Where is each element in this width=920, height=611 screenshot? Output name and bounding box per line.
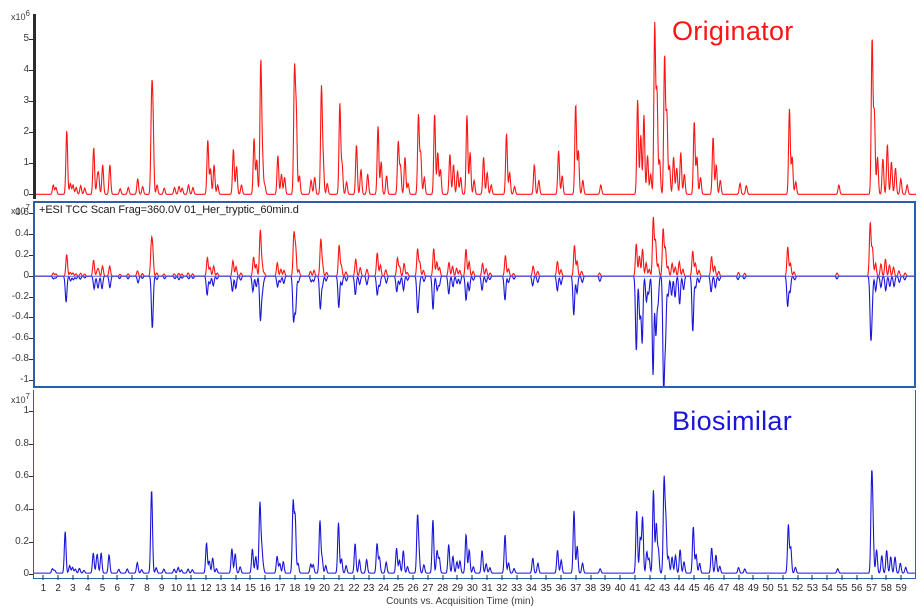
x-tick-mark bbox=[782, 575, 783, 580]
x-tick-label: 32 bbox=[496, 584, 507, 594]
y-tick-label: 0 bbox=[23, 189, 29, 199]
x-tick-label: 26 bbox=[408, 584, 419, 594]
y-tick-label: 2 bbox=[23, 127, 29, 137]
x-tick-mark bbox=[353, 575, 354, 580]
x-tick-label: 56 bbox=[851, 584, 862, 594]
x-tick-label: 45 bbox=[689, 584, 700, 594]
x-tick-label: 30 bbox=[467, 584, 478, 594]
x-tick-label: 16 bbox=[260, 584, 271, 594]
x-tick-label: 44 bbox=[674, 584, 685, 594]
x-tick-mark bbox=[812, 575, 813, 580]
x-tick-mark bbox=[708, 575, 709, 580]
x-tick-mark bbox=[280, 575, 281, 580]
x-tick-label: 7 bbox=[129, 584, 135, 594]
x-tick-mark bbox=[368, 575, 369, 580]
x-tick-mark bbox=[753, 575, 754, 580]
x-tick-label: 34 bbox=[526, 584, 537, 594]
annotation-biosimilar: Biosimilar bbox=[672, 406, 792, 437]
x-tick-label: 52 bbox=[792, 584, 803, 594]
y-tick-label: -0.4 bbox=[12, 312, 29, 322]
x-tick-mark bbox=[901, 575, 902, 580]
y-tick-label: -0.8 bbox=[12, 354, 29, 364]
x-tick-label: 8 bbox=[144, 584, 150, 594]
x-tick-mark bbox=[309, 575, 310, 580]
x-tick-mark bbox=[472, 575, 473, 580]
y-tick-label: 3 bbox=[23, 96, 29, 106]
x-tick-label: 37 bbox=[570, 584, 581, 594]
x-tick-label: 33 bbox=[511, 584, 522, 594]
x-tick-mark bbox=[501, 575, 502, 580]
x-tick-label: 46 bbox=[703, 584, 714, 594]
x-tick-mark bbox=[842, 575, 843, 580]
y-tick-label: 0 bbox=[23, 271, 29, 281]
x-tick-label: 55 bbox=[836, 584, 847, 594]
x-tick-label: 42 bbox=[644, 584, 655, 594]
x-tick-mark bbox=[546, 575, 547, 580]
x-tick-label: 11 bbox=[186, 584, 196, 594]
x-tick-label: 49 bbox=[748, 584, 759, 594]
x-tick-mark bbox=[117, 575, 118, 580]
x-tick-mark bbox=[827, 575, 828, 580]
x-tick-mark bbox=[738, 575, 739, 580]
x-tick-mark bbox=[383, 575, 384, 580]
x-tick-label: 38 bbox=[585, 584, 596, 594]
trace-difference-mirror bbox=[35, 203, 914, 386]
x-tick-mark bbox=[146, 575, 147, 580]
x-tick-label: 51 bbox=[777, 584, 788, 594]
x-tick-label: 9 bbox=[159, 584, 165, 594]
y-tick-label: 5 bbox=[23, 34, 29, 44]
x-tick-label: 17 bbox=[274, 584, 285, 594]
y-tick-label: 0.6 bbox=[15, 471, 29, 481]
y-tick-label: 0.6 bbox=[15, 208, 29, 218]
x-tick-mark bbox=[768, 575, 769, 580]
x-tick-mark bbox=[664, 575, 665, 580]
x-tick-mark bbox=[649, 575, 650, 580]
x-tick-mark bbox=[590, 575, 591, 580]
x-tick-label: 12 bbox=[200, 584, 211, 594]
x-tick-label: 22 bbox=[348, 584, 359, 594]
x-tick-mark bbox=[398, 575, 399, 580]
x-tick-label: 2 bbox=[55, 584, 61, 594]
x-tick-mark bbox=[58, 575, 59, 580]
x-tick-label: 27 bbox=[422, 584, 433, 594]
x-tick-mark bbox=[206, 575, 207, 580]
y-tick-label: 0 bbox=[23, 569, 29, 579]
y-tick-label: 1 bbox=[23, 158, 29, 168]
y-tick-label: -0.6 bbox=[12, 333, 29, 343]
y-tick-label: 0.8 bbox=[15, 439, 29, 449]
x-tick-mark bbox=[102, 575, 103, 580]
x-tick-mark bbox=[191, 575, 192, 580]
x-tick-mark bbox=[87, 575, 88, 580]
mirror-originator-path bbox=[35, 217, 914, 276]
x-tick-mark bbox=[235, 575, 236, 580]
x-tick-label: 36 bbox=[555, 584, 566, 594]
y-axis-exponent: x106 bbox=[11, 10, 30, 22]
y-axis-exponent: x107 bbox=[11, 393, 30, 405]
x-tick-mark bbox=[679, 575, 680, 580]
x-tick-mark bbox=[324, 575, 325, 580]
x-tick-label: 29 bbox=[452, 584, 463, 594]
y-axis-top-panel: x106012345 bbox=[0, 14, 33, 199]
x-tick-label: 20 bbox=[319, 584, 330, 594]
x-tick-label: 21 bbox=[334, 584, 345, 594]
x-tick-mark bbox=[413, 575, 414, 580]
x-tick-mark bbox=[265, 575, 266, 580]
y-tick-label: -0.2 bbox=[12, 292, 29, 302]
x-tick-mark bbox=[575, 575, 576, 580]
x-tick-label: 58 bbox=[881, 584, 892, 594]
x-tick-mark bbox=[871, 575, 872, 580]
x-axis: 1234567891011121314151617181920212223242… bbox=[33, 575, 916, 595]
x-tick-mark bbox=[487, 575, 488, 580]
y-tick-label: 0.2 bbox=[15, 250, 29, 260]
x-tick-mark bbox=[220, 575, 221, 580]
biosimilar-trace-path bbox=[34, 470, 915, 573]
y-tick-label: -1 bbox=[20, 375, 29, 385]
y-tick-label: 0.4 bbox=[15, 504, 29, 514]
x-tick-label: 57 bbox=[866, 584, 877, 594]
x-tick-mark bbox=[634, 575, 635, 580]
annotation-originator: Originator bbox=[672, 16, 794, 47]
y-axis-bottom-panel: x10700.20.40.60.81 bbox=[0, 390, 33, 579]
x-tick-mark bbox=[605, 575, 606, 580]
x-tick-mark bbox=[132, 575, 133, 580]
x-tick-mark bbox=[72, 575, 73, 580]
x-tick-label: 43 bbox=[659, 584, 670, 594]
x-tick-mark bbox=[723, 575, 724, 580]
x-tick-label: 54 bbox=[822, 584, 833, 594]
x-tick-label: 19 bbox=[304, 584, 315, 594]
x-tick-label: 13 bbox=[215, 584, 226, 594]
x-tick-label: 3 bbox=[70, 584, 76, 594]
x-tick-mark bbox=[620, 575, 621, 580]
x-tick-mark bbox=[516, 575, 517, 580]
y-tick-label: 0.2 bbox=[15, 537, 29, 547]
x-tick-mark bbox=[161, 575, 162, 580]
x-tick-label: 10 bbox=[171, 584, 182, 594]
x-tick-label: 31 bbox=[482, 584, 493, 594]
x-tick-mark bbox=[561, 575, 562, 580]
x-tick-label: 14 bbox=[230, 584, 241, 594]
x-tick-label: 50 bbox=[763, 584, 774, 594]
x-tick-mark bbox=[250, 575, 251, 580]
x-tick-mark bbox=[339, 575, 340, 580]
x-tick-mark bbox=[886, 575, 887, 580]
y-tick-label: 1 bbox=[23, 406, 29, 416]
panel-difference[interactable]: +ESI TCC Scan Frag=360.0V 01_Her_tryptic… bbox=[33, 201, 916, 388]
x-tick-mark bbox=[427, 575, 428, 580]
x-tick-label: 53 bbox=[807, 584, 818, 594]
x-tick-mark bbox=[43, 575, 44, 580]
x-tick-label: 23 bbox=[363, 584, 374, 594]
x-tick-label: 48 bbox=[733, 584, 744, 594]
x-tick-mark bbox=[856, 575, 857, 580]
y-tick-label: 0.4 bbox=[15, 229, 29, 239]
x-tick-mark bbox=[176, 575, 177, 580]
x-tick-label: 24 bbox=[378, 584, 389, 594]
x-tick-label: 5 bbox=[100, 584, 106, 594]
originator-trace-path bbox=[35, 22, 916, 195]
x-tick-label: 47 bbox=[718, 584, 729, 594]
x-tick-label: 15 bbox=[245, 584, 256, 594]
x-tick-label: 35 bbox=[541, 584, 552, 594]
x-tick-mark bbox=[294, 575, 295, 580]
x-tick-label: 41 bbox=[629, 584, 640, 594]
x-tick-mark bbox=[531, 575, 532, 580]
x-tick-label: 1 bbox=[41, 584, 47, 594]
chromatogram-figure: x106012345 Originator x1070.60.40.20-0.2… bbox=[0, 0, 920, 611]
x-tick-mark bbox=[442, 575, 443, 580]
y-tick-label: 4 bbox=[23, 65, 29, 75]
x-tick-mark bbox=[694, 575, 695, 580]
mirror-biosimilar-path bbox=[35, 276, 914, 386]
x-tick-mark bbox=[797, 575, 798, 580]
panel-title-difference: +ESI TCC Scan Frag=360.0V 01_Her_tryptic… bbox=[39, 204, 299, 216]
x-axis-label: Counts vs. Acquisition Time (min) bbox=[0, 596, 920, 607]
y-axis-middle-panel: x1070.60.40.20-0.2-0.4-0.6-0.8-1 bbox=[0, 201, 33, 388]
x-tick-label: 39 bbox=[600, 584, 611, 594]
x-tick-label: 40 bbox=[615, 584, 626, 594]
x-tick-label: 28 bbox=[437, 584, 448, 594]
x-tick-label: 6 bbox=[115, 584, 121, 594]
x-tick-label: 59 bbox=[896, 584, 907, 594]
x-tick-mark bbox=[457, 575, 458, 580]
x-tick-label: 4 bbox=[85, 584, 91, 594]
x-tick-label: 18 bbox=[289, 584, 300, 594]
x-tick-label: 25 bbox=[393, 584, 404, 594]
